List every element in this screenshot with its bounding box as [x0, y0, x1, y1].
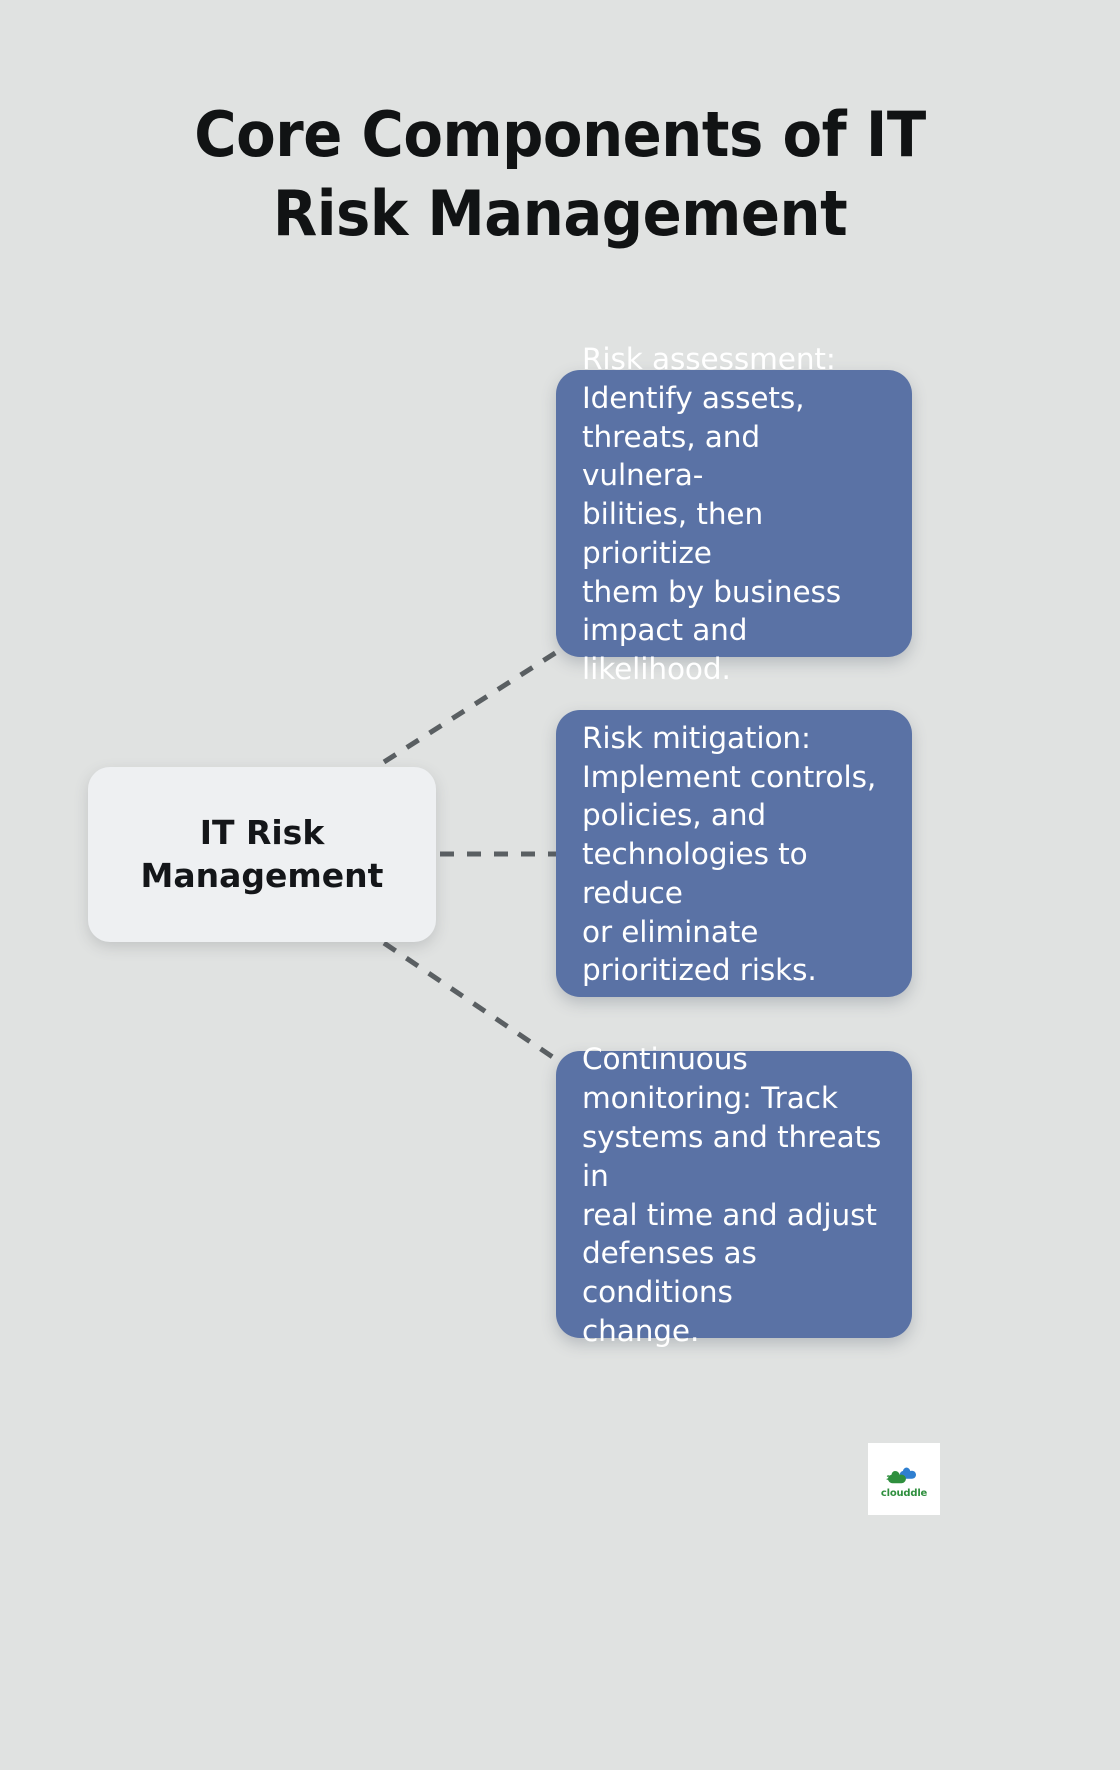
branch-label: Continuous monitoring: Track systems and… — [582, 1040, 886, 1350]
logo-wordmark: clouddle — [881, 1488, 927, 1499]
branch-box-risk-mitigation[interactable]: Risk mitigation: Implement controls, pol… — [556, 710, 912, 997]
branch-label: Risk mitigation: Implement controls, pol… — [582, 719, 886, 990]
connector-line-to-branch-2 — [384, 943, 560, 1062]
page-title: Core Components of IT Risk Management — [123, 95, 997, 254]
center-node[interactable]: IT Risk Management — [88, 767, 436, 942]
clouddle-logo: clouddle — [868, 1443, 940, 1515]
branch-label: Risk assessment: Identify assets, threat… — [582, 340, 886, 689]
cloud-icon — [884, 1460, 924, 1486]
center-node-label: IT Risk Management — [141, 812, 384, 896]
connector-line-to-branch-0 — [384, 650, 560, 762]
branch-box-continuous-monitoring[interactable]: Continuous monitoring: Track systems and… — [556, 1051, 912, 1338]
branch-box-risk-assessment[interactable]: Risk assessment: Identify assets, threat… — [556, 370, 912, 657]
